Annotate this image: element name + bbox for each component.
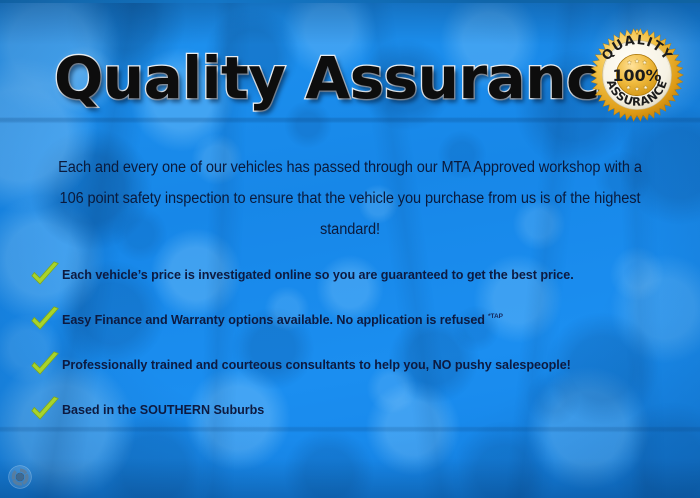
checkmark-icon (28, 306, 62, 334)
checkmark-icon (28, 396, 62, 424)
quality-assurance-seal-icon: QUALITY ASSURANCE 100% (589, 27, 685, 123)
list-item-label: Professionally trained and courteous con… (62, 358, 571, 372)
list-item-text: Each vehicle’s price is investigated onl… (62, 268, 574, 282)
list-item-text: Easy Finance and Warranty options availa… (62, 313, 485, 327)
refresh-icon[interactable] (7, 464, 33, 490)
top-border (0, 0, 700, 3)
checkmark-icon (28, 261, 62, 289)
list-item-footnote: *TAP (488, 313, 503, 320)
list-item: Based in the SOUTHERN Suburbs (28, 387, 680, 432)
seal-center-text: 100% (613, 66, 662, 85)
feature-list: Each vehicle’s price is investigated onl… (28, 252, 680, 432)
list-item-text: Professionally trained and courteous con… (62, 358, 571, 372)
intro-paragraph: Each and every one of our vehicles has p… (45, 152, 654, 245)
list-item-text: Based in the SOUTHERN Suburbs (62, 403, 264, 417)
checkmark-icon (28, 351, 62, 379)
list-item: Each vehicle’s price is investigated onl… (28, 252, 680, 297)
list-item-label: Based in the SOUTHERN Suburbs (62, 403, 264, 417)
list-item: Professionally trained and courteous con… (28, 342, 680, 387)
list-item-label: Each vehicle’s price is investigated onl… (62, 268, 574, 282)
quality-assurance-banner: Quality Assurance! (0, 0, 700, 498)
page-title: Quality Assurance! (54, 49, 665, 107)
list-item-label: Easy Finance and Warranty options availa… (62, 313, 503, 327)
list-item: Easy Finance and Warranty options availa… (28, 297, 680, 342)
